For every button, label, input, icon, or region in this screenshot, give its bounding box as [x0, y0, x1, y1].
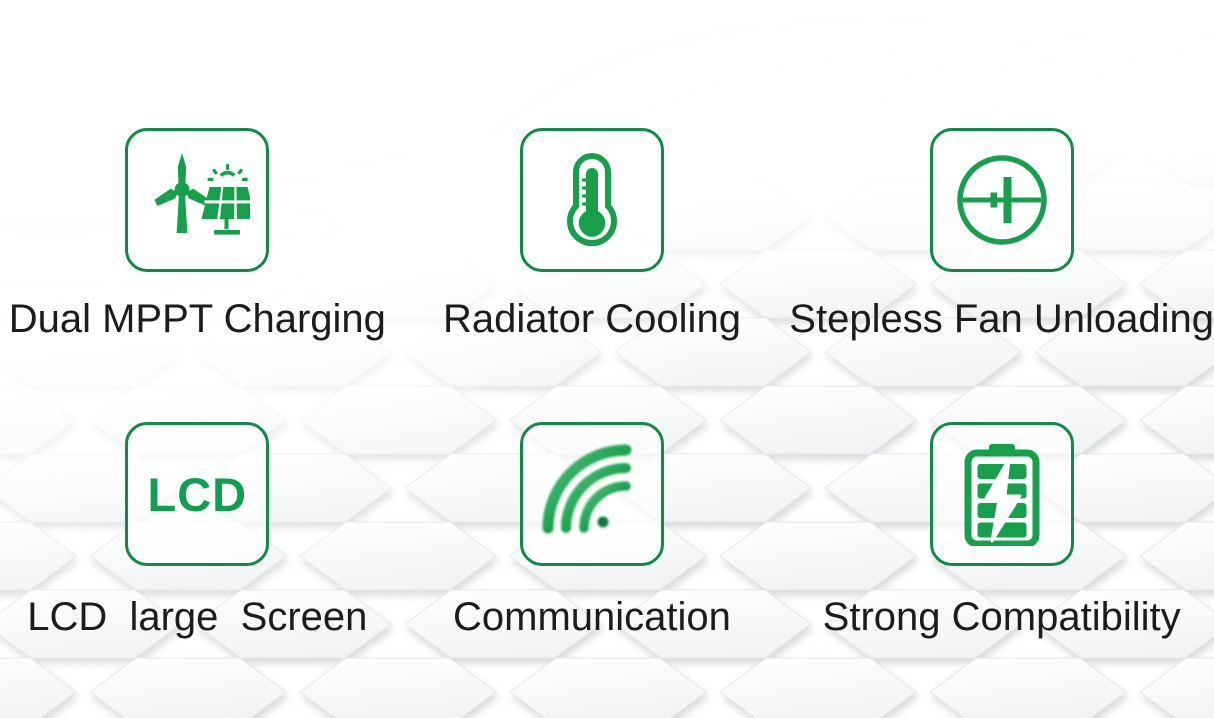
feature-highlight-banner: Dual MPPT Charging — [0, 0, 1214, 718]
wind-turbine-solar-panel-icon — [144, 147, 250, 253]
feature-label-strong-compatibility: Strong Compatibility — [823, 596, 1181, 638]
feature-label-radiator-cooling: Radiator Cooling — [443, 298, 741, 340]
icon-box-strong-compatibility — [930, 422, 1074, 566]
feature-label-stepless-fan-unloading: Stepless Fan Unloading — [789, 298, 1214, 340]
feature-item-lcd-large-screen[interactable]: LCD LCD large Screen — [0, 358, 395, 718]
icon-box-dual-mppt-charging — [125, 128, 269, 272]
feature-item-radiator-cooling[interactable]: Radiator Cooling — [395, 0, 790, 358]
feature-grid: Dual MPPT Charging — [0, 0, 1214, 718]
lcd-text-icon: LCD — [148, 471, 248, 518]
feature-item-communication[interactable]: Communication — [395, 358, 790, 718]
icon-box-communication — [520, 422, 664, 566]
icon-box-lcd-large-screen: LCD — [125, 422, 269, 566]
thermometer-icon — [542, 150, 642, 250]
feature-label-lcd-large-screen: LCD large Screen — [27, 596, 367, 638]
feature-item-strong-compatibility[interactable]: Strong Compatibility — [789, 358, 1214, 718]
feature-item-dual-mppt-charging[interactable]: Dual MPPT Charging — [0, 0, 395, 358]
battery-circuit-symbol-icon — [950, 148, 1054, 252]
wireless-signal-icon — [540, 442, 644, 546]
icon-box-stepless-fan-unloading — [930, 128, 1074, 272]
feature-label-communication: Communication — [453, 596, 731, 638]
icon-box-radiator-cooling — [520, 128, 664, 272]
feature-label-dual-mppt-charging: Dual MPPT Charging — [9, 298, 386, 340]
battery-charging-icon — [952, 442, 1052, 546]
feature-item-stepless-fan-unloading[interactable]: Stepless Fan Unloading — [789, 0, 1214, 358]
